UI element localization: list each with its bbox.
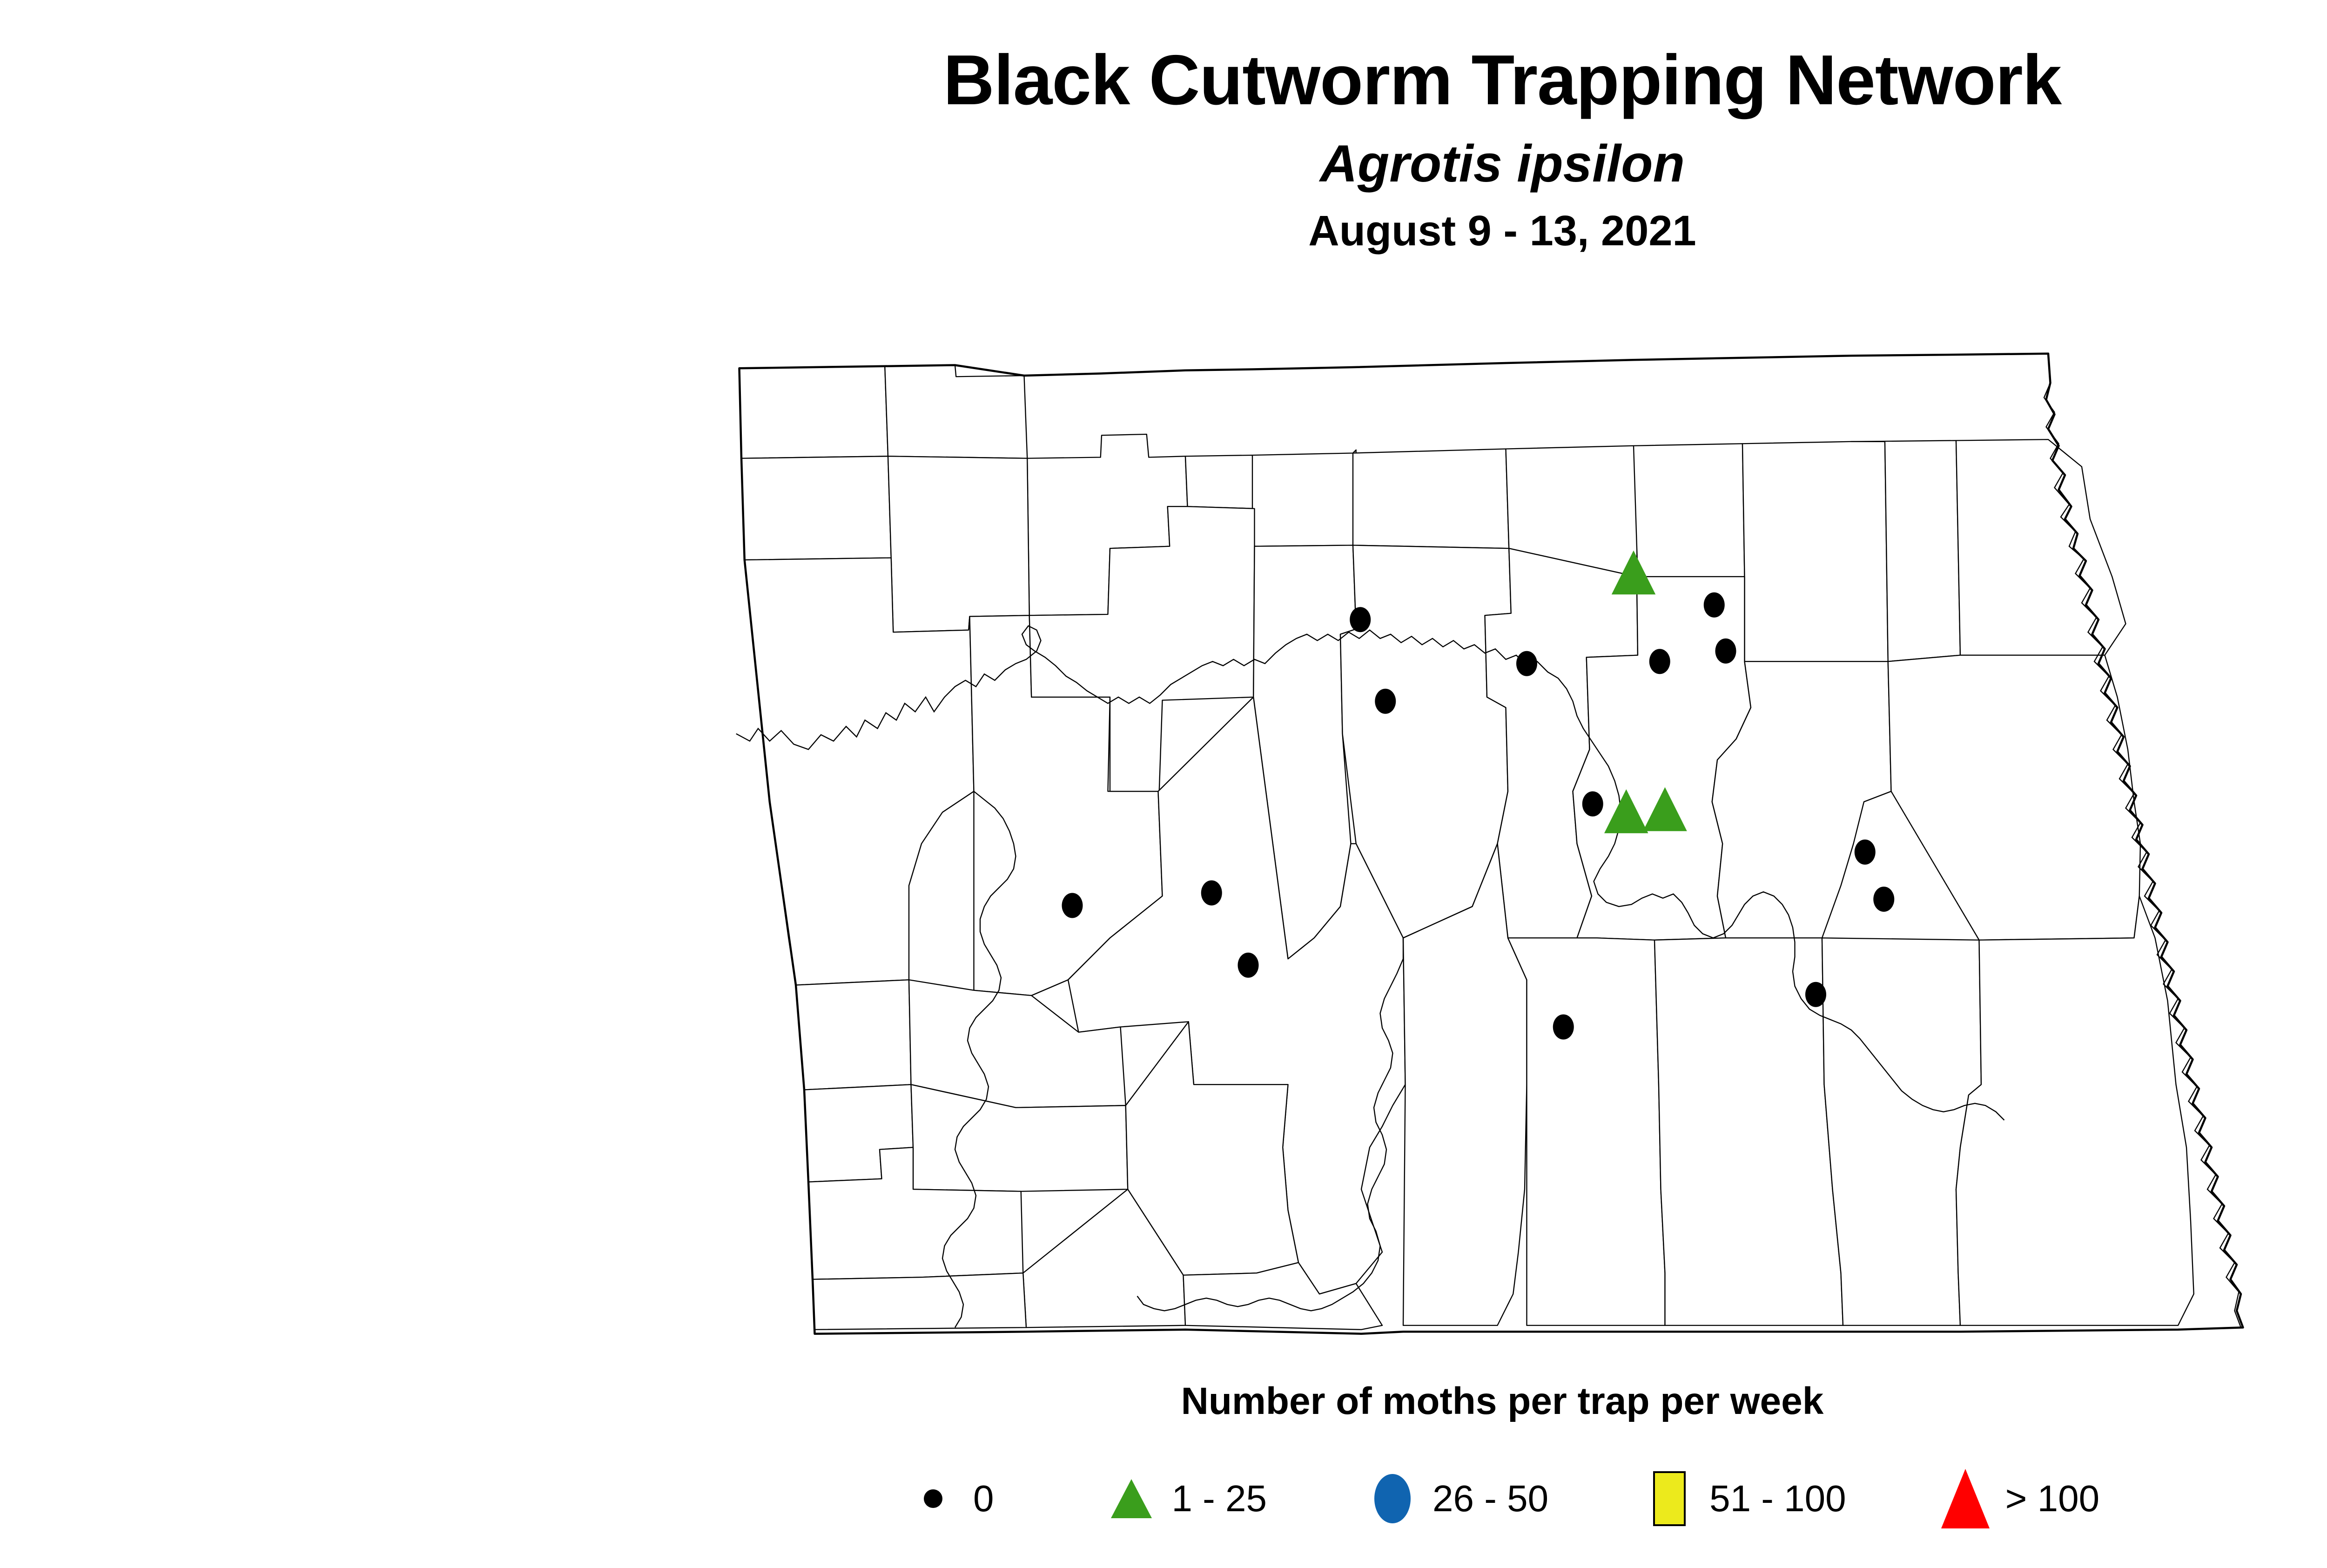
blue-circle-icon	[1365, 1466, 1420, 1531]
marker-black-dot	[1704, 592, 1725, 618]
north-dakota-map	[670, 351, 2327, 1338]
map-svg	[670, 351, 2327, 1338]
red-triangle-icon	[1937, 1466, 1993, 1531]
green-triangle-icon	[1103, 1466, 1159, 1531]
title-block: Black Cutworm Trapping Network Agrotis i…	[0, 0, 2327, 252]
legend-label-2: 26 - 50	[1433, 1477, 1548, 1520]
marker-black-dot	[1582, 791, 1603, 816]
marker-black-dot	[1553, 1015, 1574, 1040]
legend-label-3: 51 - 100	[1709, 1477, 1846, 1520]
marker-black-dot	[1855, 840, 1876, 865]
poster-root: Black Cutworm Trapping Network Agrotis i…	[0, 0, 2327, 1568]
legend-item-4: > 100	[1937, 1466, 2099, 1531]
legend-label-4: > 100	[2005, 1477, 2099, 1520]
black-dot-icon	[905, 1466, 961, 1531]
legend-item-2: 26 - 50	[1365, 1466, 1548, 1531]
page-title: Black Cutworm Trapping Network	[0, 0, 2327, 115]
marker-black-dot	[1715, 639, 1736, 664]
legend: 0 1 - 25 26 - 50 51 - 100 > 100	[0, 1466, 2327, 1531]
marker-black-dot	[1062, 893, 1083, 918]
marker-black-dot	[1201, 881, 1222, 906]
legend-caption: Number of moths per trap per week	[0, 1382, 2327, 1420]
date-range-label: August 9 - 13, 2021	[0, 190, 2327, 252]
legend-item-0: 0	[905, 1466, 994, 1531]
marker-black-dot	[1375, 689, 1396, 714]
marker-black-dot	[1649, 649, 1670, 674]
marker-black-dot	[1238, 953, 1259, 978]
marker-black-dot	[1350, 607, 1371, 632]
marker-black-dot	[1805, 982, 1826, 1007]
legend-label-0: 0	[973, 1477, 994, 1520]
yellow-square-icon	[1641, 1466, 1697, 1531]
marker-black-dot	[1873, 887, 1894, 912]
species-subtitle: Agrotis ipsilon	[0, 115, 2327, 190]
legend-item-3: 51 - 100	[1641, 1466, 1846, 1531]
marker-black-dot	[1516, 651, 1537, 676]
legend-item-1: 1 - 25	[1103, 1466, 1267, 1531]
legend-label-1: 1 - 25	[1171, 1477, 1267, 1520]
